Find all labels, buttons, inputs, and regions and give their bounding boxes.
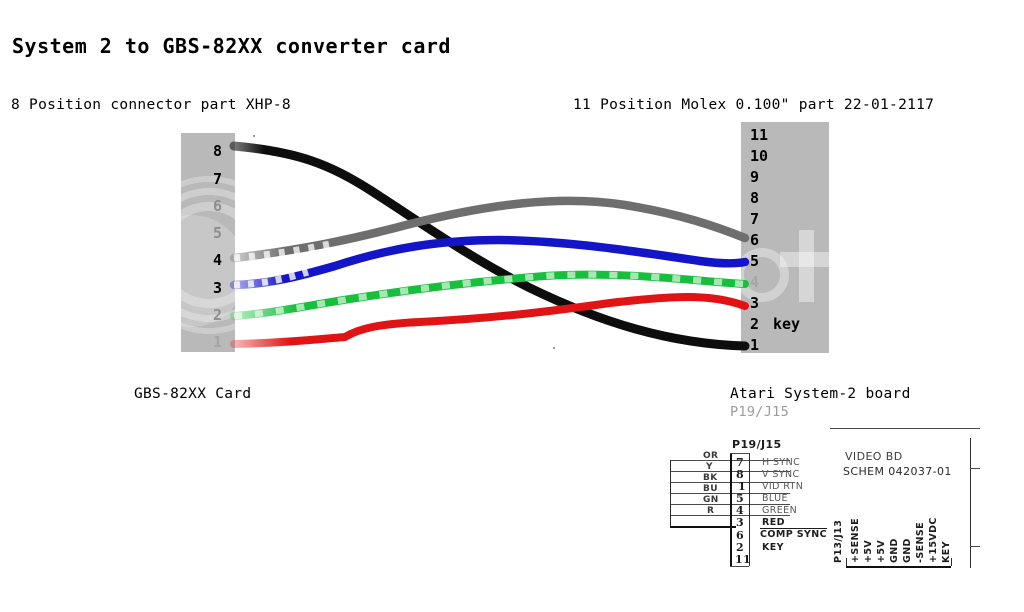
schematic-left-edge xyxy=(670,460,671,526)
schematic-signal-hsync: H SYNC xyxy=(762,457,800,468)
schematic-signal-green: GREEN xyxy=(762,505,797,516)
right-pin-9: 9 xyxy=(750,170,759,185)
stray-artifact-dot xyxy=(253,135,255,137)
schematic-power-bracket-left xyxy=(846,558,847,566)
right-pin-11: 11 xyxy=(750,128,768,143)
black-wire xyxy=(234,146,745,346)
green-wire-stripe xyxy=(234,275,745,316)
right-pin-2: 2 xyxy=(750,317,759,332)
right-pin-1: 1 xyxy=(750,338,759,353)
left-pin-2: 2 xyxy=(213,308,222,323)
schematic-signal-vsync: V SYNC xyxy=(762,469,800,480)
schematic-tick-top xyxy=(970,468,980,469)
schematic-signal-blue: BLUE xyxy=(762,493,788,504)
left-board-label: GBS-82XX Card xyxy=(134,386,251,402)
schematic-power-bracket-right xyxy=(951,558,952,566)
hand-drawn-schematic: OR Y BK BU GN R P19/J15 7 8 1 5 4 3 6 2 … xyxy=(670,420,1024,612)
schematic-power-pin-minus-sense: -SENSE xyxy=(915,522,926,563)
schematic-wirecolor-bk: BK xyxy=(703,473,718,483)
schematic-power-pin-gnd-b: GND xyxy=(902,538,913,563)
schematic-signal-compsync: COMP SYNC xyxy=(760,528,827,540)
left-connector-block: 8 7 6 5 4 3 2 1 xyxy=(181,133,235,352)
schematic-wirecolor-r: R xyxy=(707,506,714,516)
right-pin-10: 10 xyxy=(750,149,768,164)
left-pin-3: 3 xyxy=(213,281,222,296)
page-root: System 2 to GBS-82XX converter card 8 Po… xyxy=(0,0,1024,612)
left-connector-caption: 8 Position connector part XHP-8 xyxy=(11,97,291,113)
schematic-power-pin-5v-a: +5V xyxy=(863,540,874,563)
gray-wire xyxy=(234,201,745,258)
schematic-power-bracket xyxy=(846,566,951,568)
schematic-note-schem: SCHEM 042037-01 xyxy=(843,465,952,478)
right-pin-5: 5 xyxy=(750,254,759,269)
schematic-right-border xyxy=(970,438,971,568)
left-pin-1: 1 xyxy=(213,335,222,350)
right-pin-8: 8 xyxy=(750,191,759,206)
schematic-wirecolor-bu: BU xyxy=(703,484,718,494)
green-wire xyxy=(234,275,745,316)
schematic-tick-bottom xyxy=(970,546,980,547)
schematic-note-video-bd: VIDEO BD xyxy=(845,450,903,463)
left-pin-5: 5 xyxy=(213,226,222,241)
schematic-signal-red: RED xyxy=(762,517,785,528)
schematic-signal-vidrtn: VID RTN xyxy=(762,481,803,492)
right-pin-6: 6 xyxy=(750,233,759,248)
gray-wire-stripe xyxy=(234,244,330,258)
right-board-sublabel: P19/J15 xyxy=(730,404,789,420)
right-connector-block: 11 10 9 8 7 6 5 4 3 2 1 key xyxy=(741,122,829,353)
schematic-power-pin-15vdc: +15VDC xyxy=(928,517,939,563)
schematic-wirecolor-or: OR xyxy=(703,451,718,461)
schematic-connector-label: P19/J15 xyxy=(732,438,782,451)
schematic-signal-key: KEY xyxy=(762,542,784,553)
right-pin-7: 7 xyxy=(750,212,759,227)
schematic-line-bottom xyxy=(670,526,736,528)
left-pin-6: 6 xyxy=(213,199,222,214)
left-pin-4: 4 xyxy=(213,253,222,268)
left-pin-8: 8 xyxy=(213,144,222,159)
red-wire xyxy=(234,297,745,344)
schematic-pin-3: 3 xyxy=(736,516,744,529)
stray-artifact-dot-2 xyxy=(553,347,555,349)
schematic-pinbox-right xyxy=(749,453,750,566)
watermark-disc xyxy=(181,215,235,327)
schematic-power-pin-5v-b: +5V xyxy=(876,540,887,563)
right-pin-3: 3 xyxy=(750,296,759,311)
right-connector-caption: 11 Position Molex 0.100" part 22-01-2117 xyxy=(573,97,934,113)
schematic-pinbox-left xyxy=(730,453,732,566)
right-pin-4: 4 xyxy=(750,275,759,290)
schematic-pinbox-top xyxy=(730,453,749,454)
schematic-power-pin-plus-sense: +SENSE xyxy=(850,518,861,563)
left-pin-7: 7 xyxy=(213,172,222,187)
schematic-pin-11: 11 xyxy=(735,553,751,566)
blue-wire xyxy=(234,240,745,285)
schematic-wirecolor-gn: GN xyxy=(703,495,719,505)
page-title: System 2 to GBS-82XX converter card xyxy=(12,34,451,58)
right-board-label: Atari System-2 board xyxy=(730,386,911,402)
schematic-power-connector-label: P13/J13 xyxy=(833,520,844,563)
blue-wire-stripe xyxy=(234,272,308,285)
schematic-wirecolor-y: Y xyxy=(706,462,713,472)
schematic-pinbox-bottom xyxy=(730,566,749,567)
schematic-power-pin-gnd-a: GND xyxy=(889,538,900,563)
schematic-top-border xyxy=(830,428,980,429)
key-label: key xyxy=(773,317,800,332)
